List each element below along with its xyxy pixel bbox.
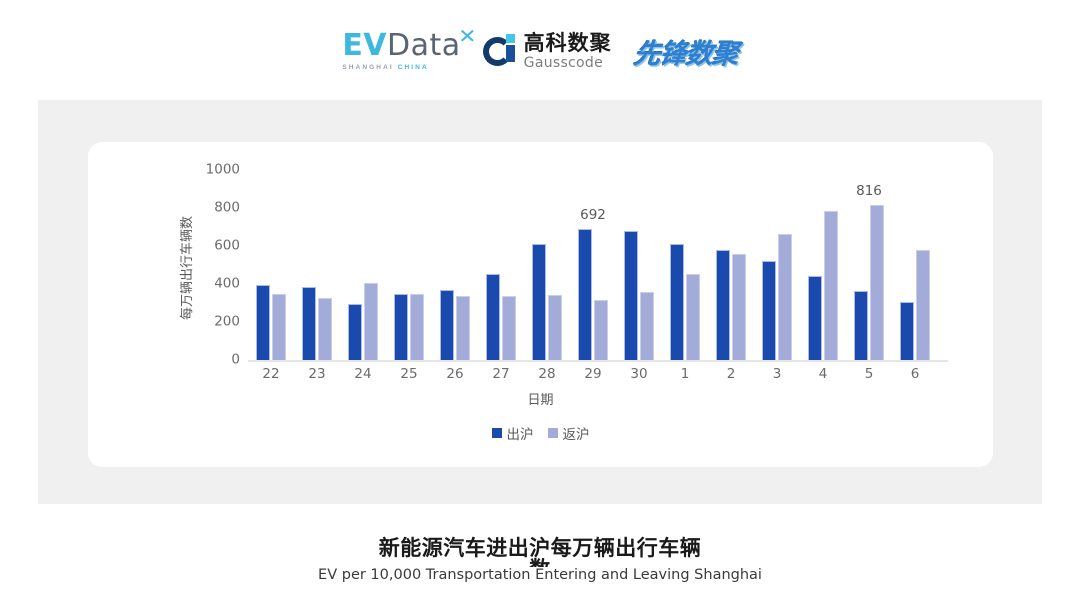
bar-出沪-28[interactable] bbox=[532, 244, 546, 360]
bar-返沪-24[interactable] bbox=[364, 283, 378, 360]
bar-出沪-2[interactable] bbox=[716, 250, 730, 360]
evdata-ev-text: EV bbox=[342, 31, 387, 61]
x-axis-tick-label: 4 bbox=[819, 366, 828, 382]
x-axis-tick-label: 6 bbox=[911, 366, 920, 382]
bar-出沪-22[interactable] bbox=[256, 285, 270, 360]
x-axis-tick-label: 29 bbox=[584, 366, 601, 382]
bar-出沪-4[interactable] bbox=[808, 276, 822, 360]
y-axis-ticks: 02004006008001000 bbox=[196, 170, 240, 360]
evdata-data-text: Data bbox=[387, 31, 461, 61]
evdata-wordmark: EVData ✕ bbox=[342, 31, 460, 61]
bar-返沪-5[interactable] bbox=[870, 205, 884, 360]
bar-group: 816 bbox=[846, 170, 892, 360]
bar-group bbox=[340, 170, 386, 360]
bar-返沪-2[interactable] bbox=[732, 254, 746, 360]
bar-返沪-22[interactable] bbox=[272, 294, 286, 360]
gausscode-en-text: Gausscode bbox=[524, 56, 612, 70]
gausscode-cn-text: 高科数聚 bbox=[524, 33, 612, 54]
legend-item-出沪[interactable]: 出沪 bbox=[492, 423, 534, 443]
bar-出沪-25[interactable] bbox=[394, 294, 408, 360]
legend-label: 返沪 bbox=[563, 423, 590, 443]
y-axis-tick-label: 800 bbox=[196, 201, 240, 215]
bar-出沪-27[interactable] bbox=[486, 274, 500, 360]
bar-出沪-30[interactable] bbox=[624, 231, 638, 360]
bar-group bbox=[708, 170, 754, 360]
x-mark-icon: ✕ bbox=[459, 26, 478, 46]
bar-返沪-4[interactable] bbox=[824, 211, 838, 360]
bar-value-label: 692 bbox=[580, 207, 606, 223]
bar-group: 692 bbox=[570, 170, 616, 360]
x-axis-tick-label: 2 bbox=[727, 366, 736, 382]
logo-evdata: EVData ✕ SHANGHAI CHINA bbox=[342, 31, 460, 71]
bar-group bbox=[754, 170, 800, 360]
y-axis-tick-label: 0 bbox=[196, 353, 240, 367]
bar-出沪-29[interactable] bbox=[578, 229, 592, 360]
bar-group bbox=[294, 170, 340, 360]
x-axis-ticks: 222324252627282930123456 bbox=[248, 366, 938, 386]
bar-出沪-6[interactable] bbox=[900, 302, 914, 360]
bar-返沪-6[interactable] bbox=[916, 250, 930, 360]
bar-返沪-1[interactable] bbox=[686, 274, 700, 360]
x-axis-title: 日期 bbox=[88, 389, 993, 408]
caption-title-en: EV per 10,000 Transportation Entering an… bbox=[0, 567, 1080, 583]
bar-group bbox=[616, 170, 662, 360]
bar-返沪-26[interactable] bbox=[456, 296, 470, 360]
x-axis-tick-label: 5 bbox=[865, 366, 874, 382]
bar-group bbox=[892, 170, 938, 360]
bar-出沪-1[interactable] bbox=[670, 244, 684, 360]
evdata-tagline: SHANGHAI CHINA bbox=[342, 64, 428, 71]
bar-出沪-3[interactable] bbox=[762, 261, 776, 360]
x-axis-tick-label: 3 bbox=[773, 366, 782, 382]
x-axis-tick-label: 25 bbox=[400, 366, 417, 382]
legend-item-返沪[interactable]: 返沪 bbox=[548, 423, 590, 443]
y-axis-title: 每万辆出行车辆数 bbox=[176, 193, 192, 343]
bar-返沪-27[interactable] bbox=[502, 296, 516, 360]
x-axis-tick-label: 22 bbox=[262, 366, 279, 382]
plot-area: 692816 bbox=[248, 170, 938, 360]
bar-返沪-25[interactable] bbox=[410, 294, 424, 361]
bar-chart: 每万辆出行车辆数 02004006008001000 692816 222324… bbox=[88, 142, 993, 467]
bar-group bbox=[386, 170, 432, 360]
y-axis-tick-label: 600 bbox=[196, 239, 240, 253]
bar-返沪-3[interactable] bbox=[778, 234, 792, 360]
bar-出沪-23[interactable] bbox=[302, 287, 316, 360]
bar-返沪-28[interactable] bbox=[548, 295, 562, 360]
y-axis-tick-label: 400 bbox=[196, 277, 240, 291]
x-axis-tick-label: 28 bbox=[538, 366, 555, 382]
bar-返沪-30[interactable] bbox=[640, 292, 654, 360]
gausscode-mark-icon bbox=[483, 34, 517, 68]
bar-返沪-23[interactable] bbox=[318, 298, 332, 360]
bar-group bbox=[432, 170, 478, 360]
bar-group bbox=[248, 170, 294, 360]
evdata-tagline-city: SHANGHAI bbox=[342, 64, 397, 71]
gausscode-wordmark: 高科数聚 Gausscode bbox=[524, 33, 612, 70]
caption-title-cn-overflow: 数 bbox=[0, 553, 1080, 567]
bar-value-label: 816 bbox=[856, 183, 882, 199]
logo-gausscode: 高科数聚 Gausscode bbox=[483, 33, 612, 70]
slide-root: EVData ✕ SHANGHAI CHINA 高科数聚 Gausscode 先… bbox=[0, 0, 1080, 608]
x-axis-tick-label: 26 bbox=[446, 366, 463, 382]
x-axis-tick-label: 24 bbox=[354, 366, 371, 382]
chart-card: 每万辆出行车辆数 02004006008001000 692816 222324… bbox=[88, 142, 993, 467]
bar-出沪-5[interactable] bbox=[854, 291, 868, 360]
bar-出沪-26[interactable] bbox=[440, 290, 454, 360]
y-axis-tick-label: 200 bbox=[196, 315, 240, 329]
bar-group bbox=[662, 170, 708, 360]
legend-label: 出沪 bbox=[507, 423, 534, 443]
bar-返沪-29[interactable] bbox=[594, 300, 608, 360]
x-axis-tick-label: 23 bbox=[308, 366, 325, 382]
bar-group bbox=[478, 170, 524, 360]
y-axis-tick-label: 1000 bbox=[196, 163, 240, 177]
x-axis-tick-label: 27 bbox=[492, 366, 509, 382]
legend-swatch-icon bbox=[492, 428, 502, 438]
bar-出沪-24[interactable] bbox=[348, 304, 362, 360]
legend-swatch-icon bbox=[548, 428, 558, 438]
logo-bar: EVData ✕ SHANGHAI CHINA 高科数聚 Gausscode 先… bbox=[0, 22, 1080, 80]
logo-xianfeng: 先锋数聚 bbox=[632, 32, 740, 71]
x-axis-tick-label: 1 bbox=[681, 366, 690, 382]
chart-legend: 出沪返沪 bbox=[88, 423, 993, 443]
x-axis-line bbox=[248, 360, 948, 362]
evdata-tagline-country: CHINA bbox=[398, 64, 429, 71]
x-axis-tick-label: 30 bbox=[630, 366, 647, 382]
bar-group bbox=[524, 170, 570, 360]
bar-group bbox=[800, 170, 846, 360]
